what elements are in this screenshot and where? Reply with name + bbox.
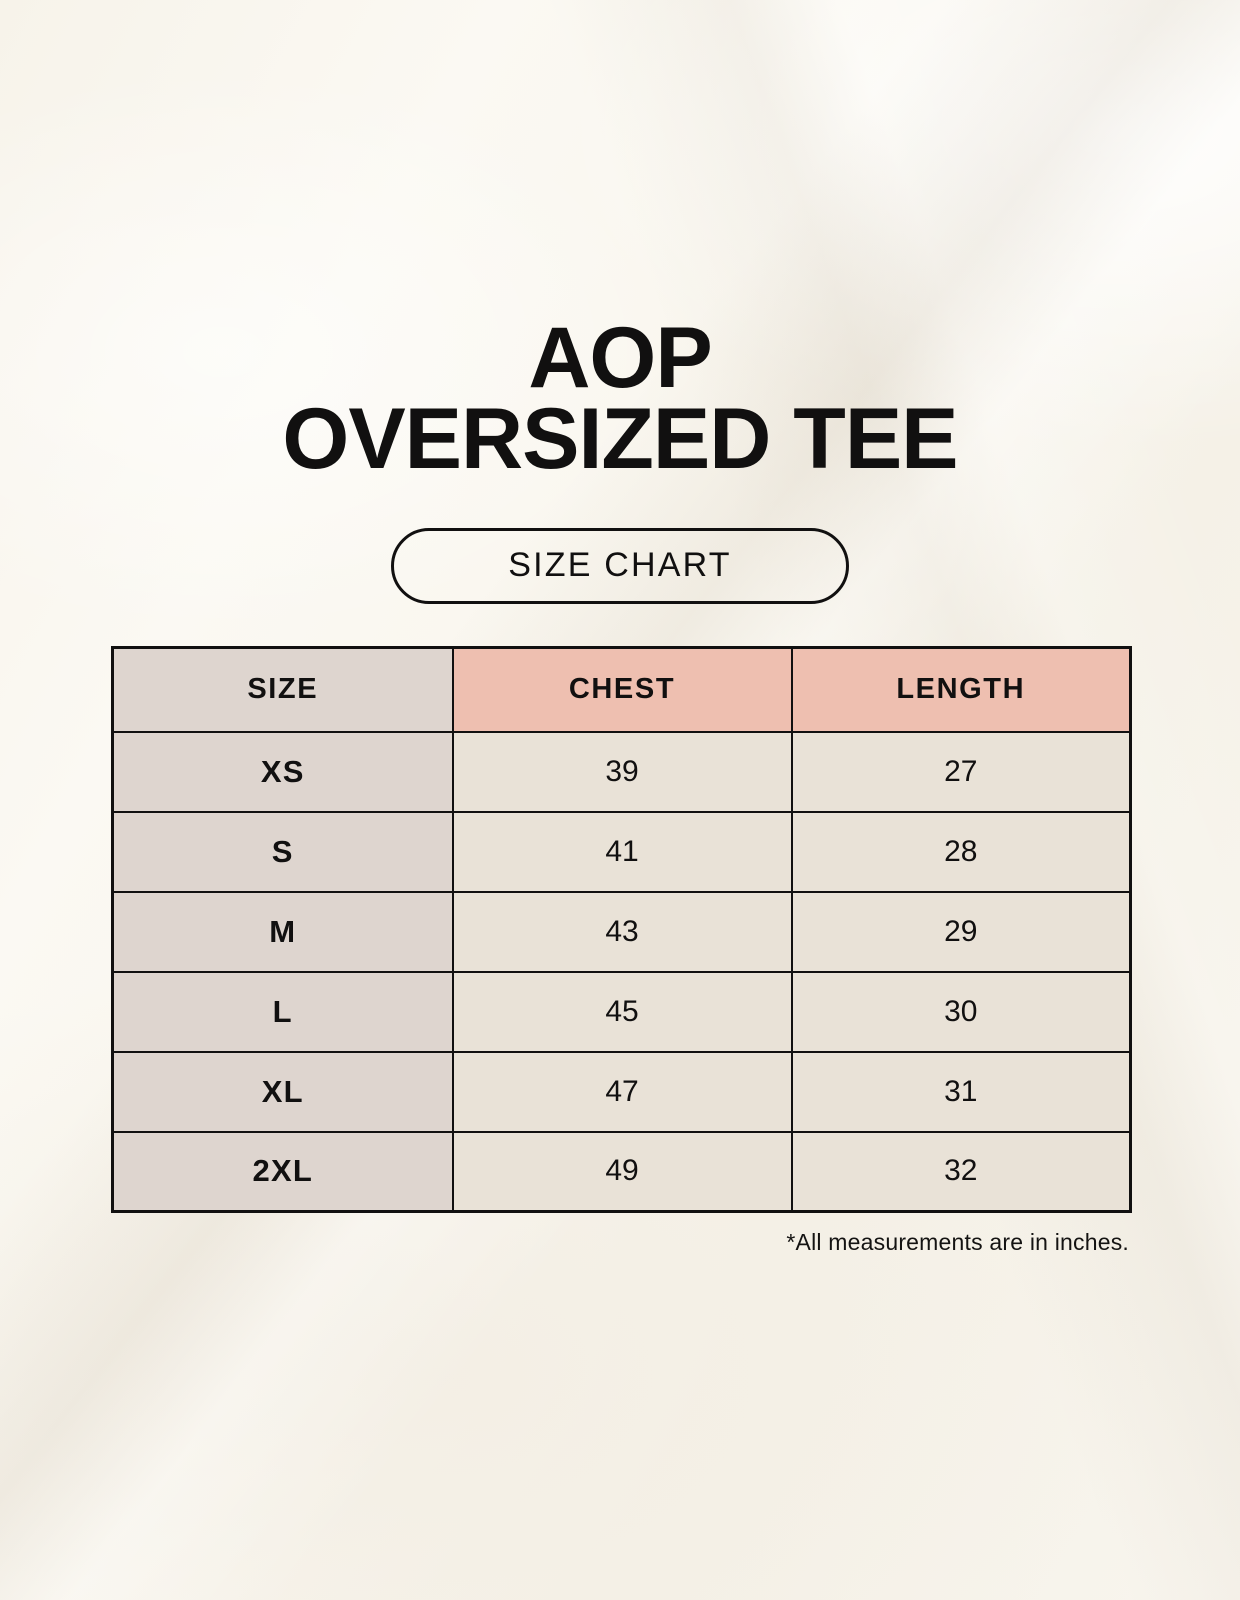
size-chart-page: AOP OVERSIZED TEE SIZE CHART SIZE CHEST …	[0, 0, 1240, 1256]
table-row: 2XL 49 32	[113, 1132, 1131, 1212]
cell-chest: 49	[453, 1132, 792, 1212]
badge-row: SIZE CHART	[0, 528, 1240, 604]
column-header-size: SIZE	[113, 647, 453, 732]
cell-length: 28	[792, 812, 1131, 892]
table-body: XS 39 27 S 41 28 M 43 29 L 45 30	[113, 732, 1131, 1212]
cell-size: 2XL	[113, 1132, 453, 1212]
table-row: M 43 29	[113, 892, 1131, 972]
cell-chest: 45	[453, 972, 792, 1052]
cell-chest: 43	[453, 892, 792, 972]
cell-size: XS	[113, 732, 453, 812]
cell-length: 32	[792, 1132, 1131, 1212]
title-block: AOP OVERSIZED TEE	[0, 0, 1240, 480]
cell-length: 29	[792, 892, 1131, 972]
cell-size: S	[113, 812, 453, 892]
size-chart-badge[interactable]: SIZE CHART	[391, 528, 849, 604]
table-row: S 41 28	[113, 812, 1131, 892]
column-header-length: LENGTH	[792, 647, 1131, 732]
cell-chest: 41	[453, 812, 792, 892]
cell-size: XL	[113, 1052, 453, 1132]
size-table-wrap: SIZE CHEST LENGTH XS 39 27 S 41 28 M	[111, 646, 1129, 1214]
table-header-row: SIZE CHEST LENGTH	[113, 647, 1131, 732]
cell-length: 31	[792, 1052, 1131, 1132]
cell-size: M	[113, 892, 453, 972]
measurement-footnote: *All measurements are in inches.	[111, 1229, 1129, 1256]
cell-chest: 47	[453, 1052, 792, 1132]
page-title: AOP OVERSIZED TEE	[280, 318, 960, 480]
cell-chest: 39	[453, 732, 792, 812]
cell-size: L	[113, 972, 453, 1052]
table-row: XL 47 31	[113, 1052, 1131, 1132]
column-header-chest: CHEST	[453, 647, 792, 732]
table-row: L 45 30	[113, 972, 1131, 1052]
table-head: SIZE CHEST LENGTH	[113, 647, 1131, 732]
cell-length: 30	[792, 972, 1131, 1052]
table-row: XS 39 27	[113, 732, 1131, 812]
cell-length: 27	[792, 732, 1131, 812]
size-chart-table: SIZE CHEST LENGTH XS 39 27 S 41 28 M	[111, 646, 1132, 1214]
